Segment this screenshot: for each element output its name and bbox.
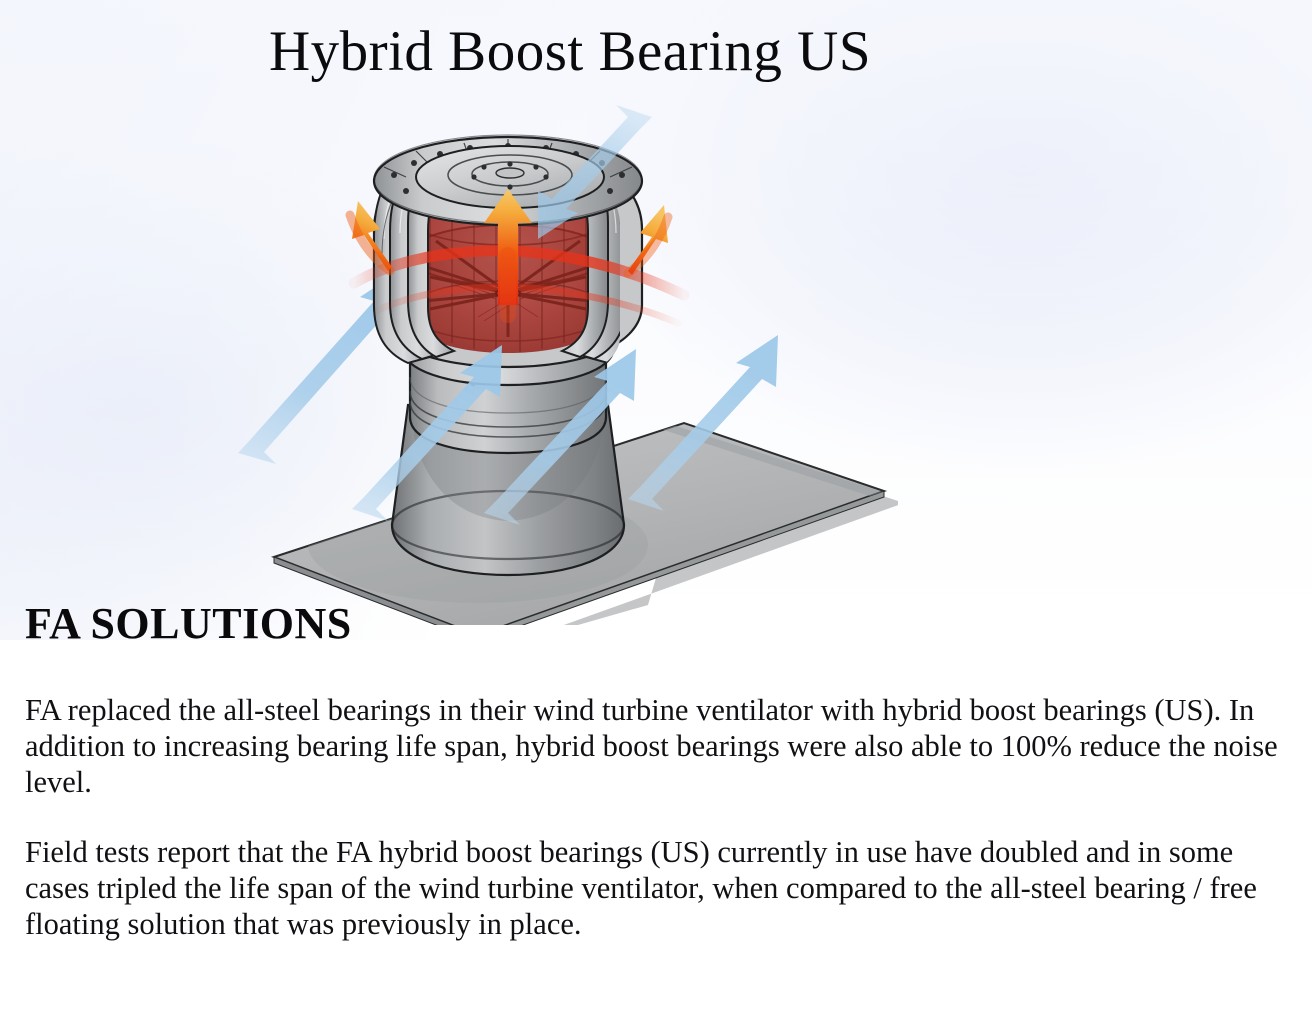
paragraph-1: FA replaced the all-steel bearings in th… xyxy=(25,692,1287,800)
page-title: Hybrid Boost Bearing US xyxy=(0,22,1140,82)
section-heading: FA SOLUTIONS xyxy=(25,598,352,649)
body-copy: FA replaced the all-steel bearings in th… xyxy=(25,692,1287,942)
paragraph-2: Field tests report that the FA hybrid bo… xyxy=(25,834,1287,942)
slide-canvas: Hybrid Boost Bearing US xyxy=(0,0,1312,1018)
ventilator-illustration xyxy=(178,105,898,625)
